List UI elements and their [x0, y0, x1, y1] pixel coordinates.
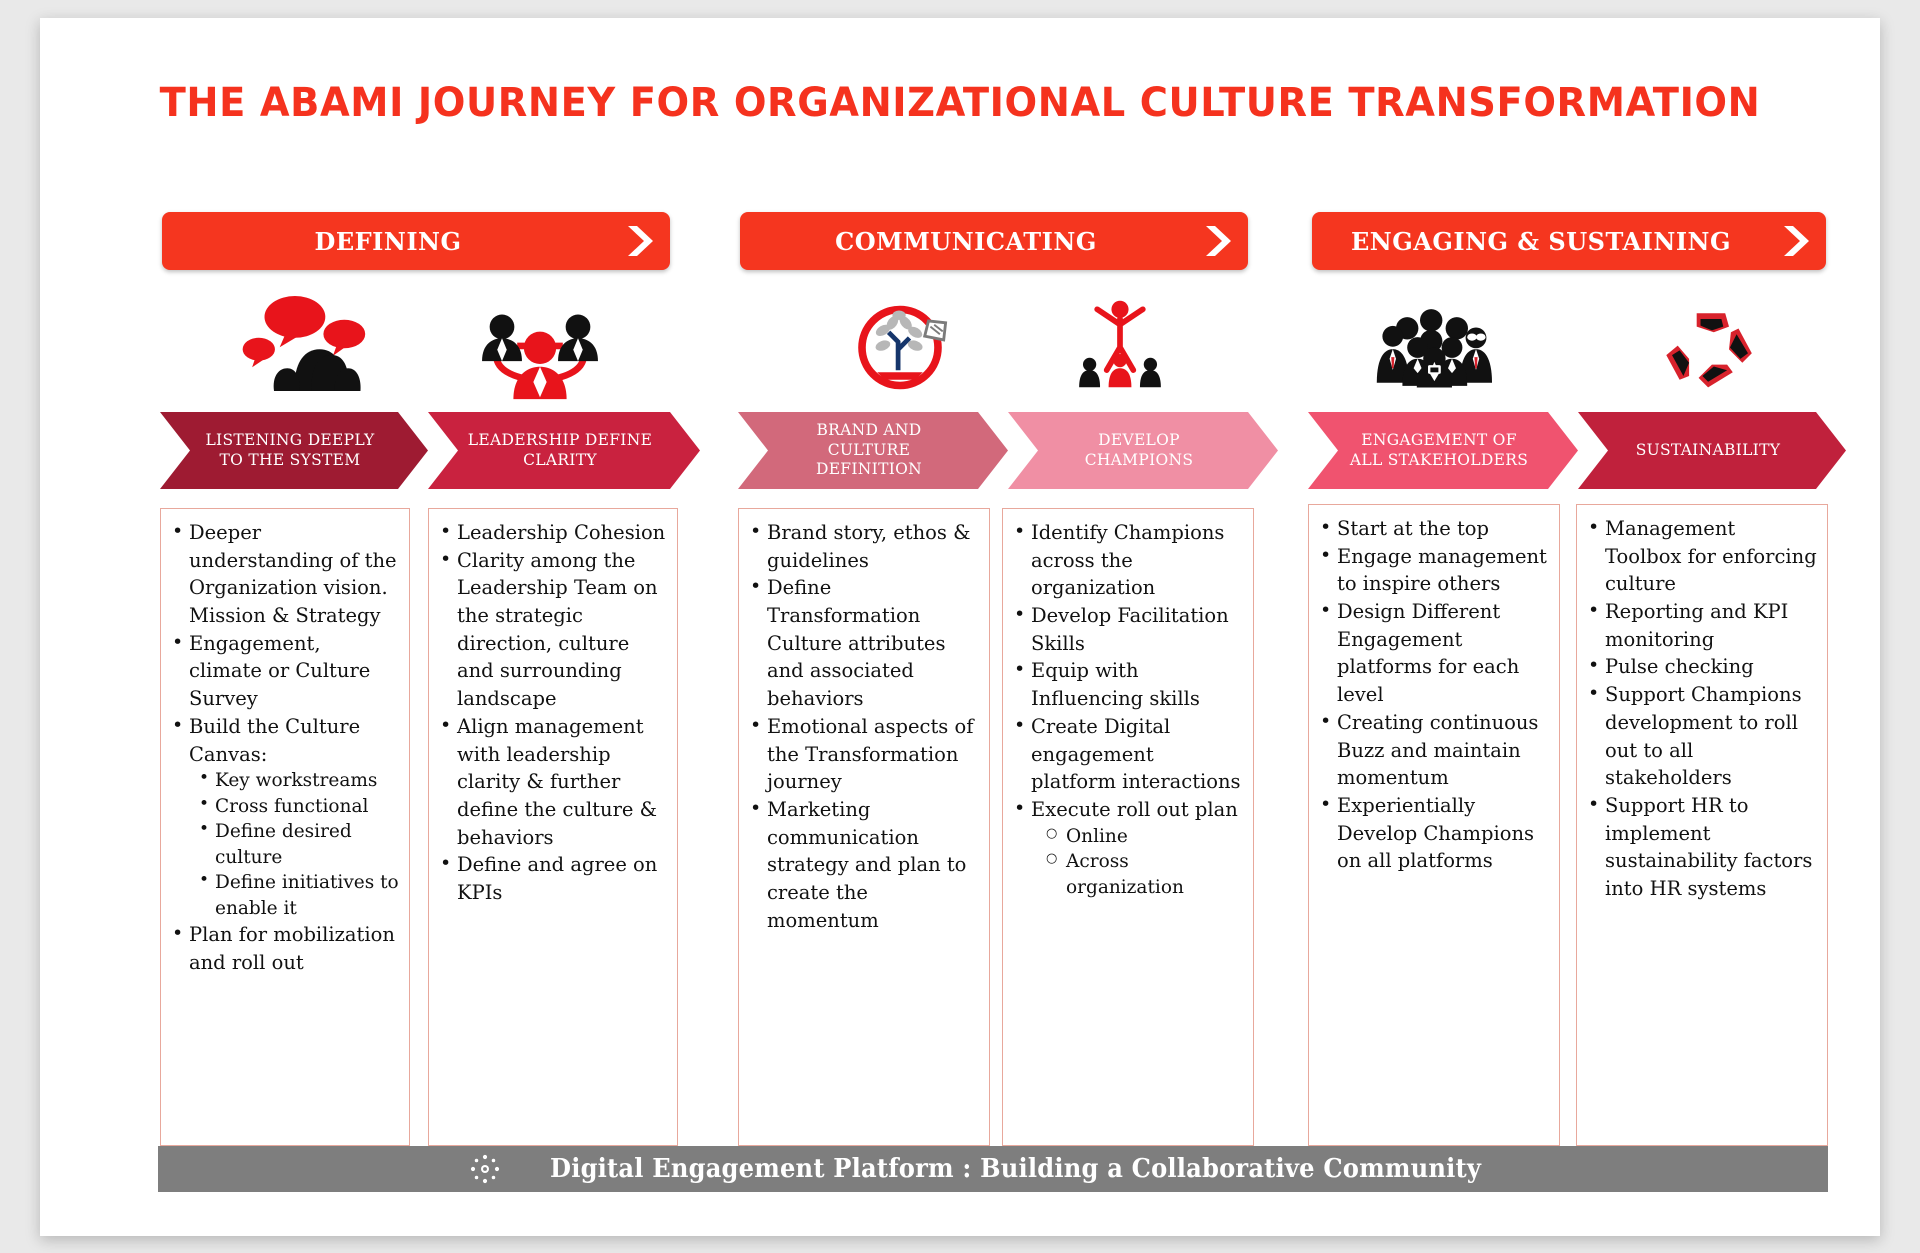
content-box-brand-culture: Brand story, ethos & guidelines Define T…	[738, 508, 990, 1146]
phase-banner-label: DEFINING	[162, 212, 614, 270]
stage-arrow-label: SUSTAINABILITY	[1636, 441, 1781, 461]
list-item: Equip with Influencing skills	[1009, 657, 1243, 712]
phase-banner-label: COMMUNICATING	[740, 212, 1192, 270]
list-item: Engage management to inspire others	[1315, 543, 1549, 598]
page-title: THE ABAMI JOURNEY FOR ORGANIZATIONAL CUL…	[77, 80, 1843, 126]
crowd-people-icon	[1372, 300, 1532, 395]
list-item: Create Digital engagement platform inter…	[1009, 713, 1243, 796]
list-item: Pulse checking	[1583, 653, 1817, 681]
list-item: Marketing communication strategy and pla…	[745, 796, 979, 934]
leadership-network-icon	[460, 306, 620, 401]
icon-slot-stakeholders	[1372, 300, 1532, 395]
sub-list-item: Cross functional	[197, 794, 399, 820]
content-box-sustainability: Management Toolbox for enforcing culture…	[1576, 504, 1828, 1146]
content-box-leadership-clarity: Leadership Cohesion Clarity among the Le…	[428, 508, 678, 1146]
stage-arrow-listening: LISTENING DEEPLYTO THE SYSTEM	[160, 412, 428, 489]
stage-arrow-label: BRAND ANDCULTUREDEFINITION	[816, 421, 922, 480]
stage-arrow-label: ENGAGEMENT OFALL STAKEHOLDERS	[1350, 431, 1528, 471]
stage-arrow-label: LEADERSHIP DEFINECLARITY	[468, 431, 652, 471]
list-item: Deeper understanding of the Organization…	[167, 519, 399, 630]
list-item: Brand story, ethos & guidelines	[745, 519, 979, 574]
stage-arrow-develop-champions: DEVELOPCHAMPIONS	[1008, 412, 1278, 489]
phase-banner-label: ENGAGING & SUSTAINING	[1312, 212, 1770, 270]
list-item: Engagement, climate or Culture Survey	[167, 630, 399, 713]
list-item: Leadership Cohesion	[435, 519, 667, 547]
bullet-list: Deeper understanding of the Organization…	[167, 519, 399, 977]
champion-cheer-icon	[1040, 296, 1200, 391]
phase-banner-defining: DEFINING	[162, 212, 670, 270]
list-item: Define and agree on KPIs	[435, 851, 667, 906]
list-item: Define Transformation Culture attributes…	[745, 574, 979, 712]
footer-bar: Digital Engagement Platform : Building a…	[158, 1146, 1828, 1192]
icon-slot-listening	[232, 296, 392, 391]
network-atom-icon	[469, 1153, 501, 1185]
bullet-list: Identify Champions across the organizati…	[1009, 519, 1243, 900]
infographic-canvas: THE ABAMI JOURNEY FOR ORGANIZATIONAL CUL…	[40, 18, 1880, 1236]
sub-list-item: Define desired culture	[197, 819, 399, 870]
list-item: Clarity among the Leadership Team on the…	[435, 547, 667, 713]
list-item: Emotional aspects of the Transformation …	[745, 713, 979, 796]
icon-slot-leadership	[460, 306, 620, 401]
phase-banner-communicating: COMMUNICATING	[740, 212, 1248, 270]
stage-arrow-engagement-stakeholders: ENGAGEMENT OFALL STAKEHOLDERS	[1308, 412, 1578, 489]
list-item: Reporting and KPI monitoring	[1583, 598, 1817, 653]
list-item: Creating continuous Buzz and maintain mo…	[1315, 709, 1549, 792]
list-item: Management Toolbox for enforcing culture	[1583, 515, 1817, 598]
icon-slot-sustainability	[1630, 300, 1790, 395]
stage-arrow-brand-culture: BRAND ANDCULTUREDEFINITION	[738, 412, 1008, 489]
list-item: Support HR to implement sustainability f…	[1583, 792, 1817, 903]
sub-list-item: Define initiatives to enable it	[197, 870, 399, 921]
list-item: Design Different Engagement platforms fo…	[1315, 598, 1549, 709]
list-item: Start at the top	[1315, 515, 1549, 543]
chevron-right-icon	[1200, 223, 1236, 259]
bullet-list: Brand story, ethos & guidelines Define T…	[745, 519, 979, 934]
list-item: Experientially Develop Champions on all …	[1315, 792, 1549, 875]
content-box-develop-champions: Identify Champions across the organizati…	[1002, 508, 1254, 1146]
speech-bubbles-heads-icon	[232, 296, 392, 391]
bullet-list: Start at the top Engage management to in…	[1315, 515, 1549, 875]
list-item: Plan for mobilization and roll out	[167, 921, 399, 976]
sub-list-item: Key workstreams	[197, 768, 399, 794]
footer-text: Digital Engagement Platform : Building a…	[550, 1154, 1481, 1184]
list-item: Support Champions development to roll ou…	[1583, 681, 1817, 792]
list-item: Align management with leadership clarity…	[435, 713, 667, 851]
sub-bullet-list: Online Across organization	[1031, 824, 1243, 901]
list-item: Execute roll out plan Online Across orga…	[1009, 796, 1243, 900]
icon-slot-brand	[820, 300, 980, 395]
icon-slot-champions	[1040, 296, 1200, 391]
stage-arrow-label: DEVELOPCHAMPIONS	[1085, 431, 1194, 471]
bullet-list: Management Toolbox for enforcing culture…	[1583, 515, 1817, 903]
content-box-listening: Deeper understanding of the Organization…	[160, 508, 410, 1146]
sub-bullet-list: Key workstreams Cross functional Define …	[189, 768, 399, 921]
content-box-engagement-stakeholders: Start at the top Engage management to in…	[1308, 504, 1560, 1146]
bullet-list: Leadership Cohesion Clarity among the Le…	[435, 519, 667, 907]
stage-arrow-sustainability: SUSTAINABILITY	[1578, 412, 1846, 489]
phase-banner-engaging-sustaining: ENGAGING & SUSTAINING	[1312, 212, 1826, 270]
sub-list-item: Online	[1045, 824, 1243, 850]
stage-arrow-label: LISTENING DEEPLYTO THE SYSTEM	[205, 431, 374, 471]
chevron-right-icon	[1778, 223, 1814, 259]
list-item: Develop Facilitation Skills	[1009, 602, 1243, 657]
stage-arrow-leadership-clarity: LEADERSHIP DEFINECLARITY	[428, 412, 700, 489]
sub-list-item: Across organization	[1045, 849, 1243, 900]
list-item: Identify Champions across the organizati…	[1009, 519, 1243, 602]
brand-tree-tag-icon	[820, 300, 980, 395]
chevron-right-icon	[622, 223, 658, 259]
list-item: Build the Culture Canvas: Key workstream…	[167, 713, 399, 921]
hands-circle-icon	[1630, 300, 1790, 395]
